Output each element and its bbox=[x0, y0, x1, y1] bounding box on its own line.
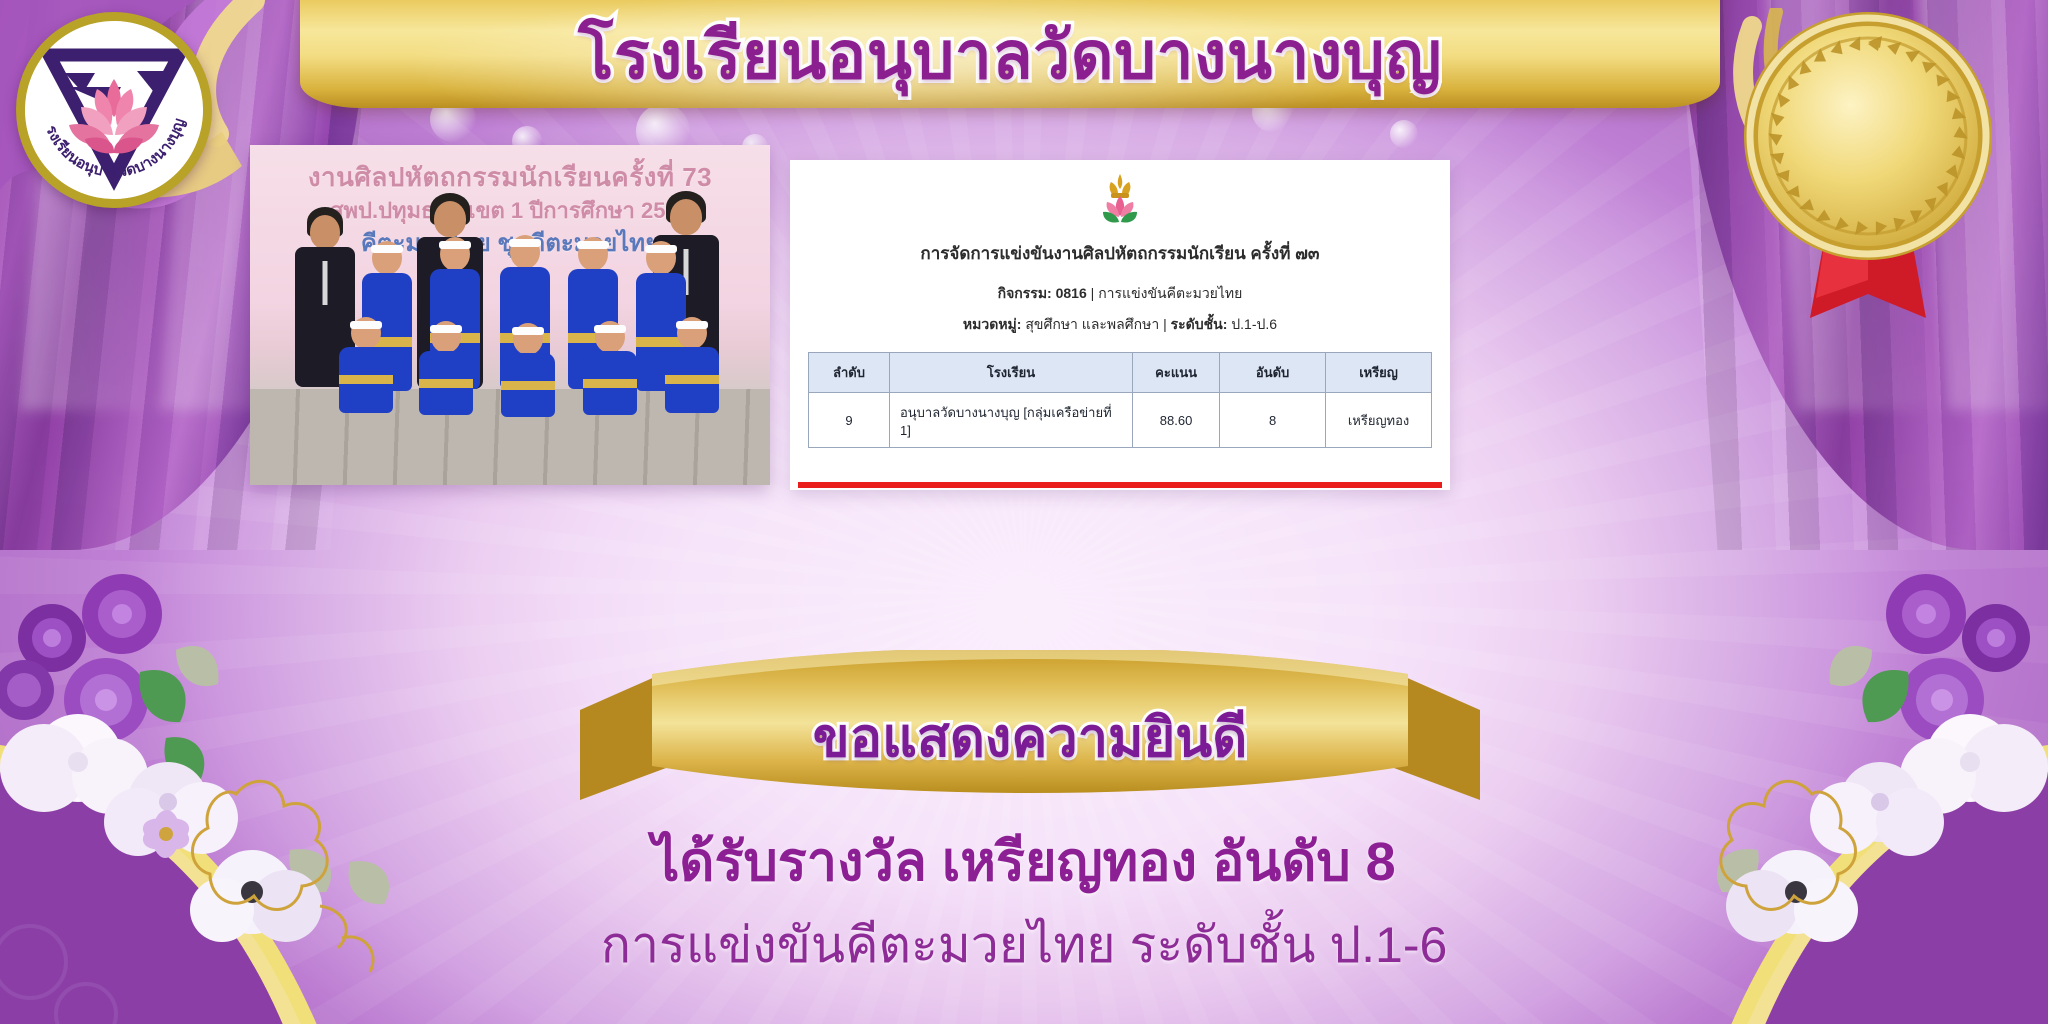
student-figure bbox=[336, 317, 396, 413]
column-header-rank: อันดับ bbox=[1220, 353, 1326, 393]
gold-medal-icon bbox=[1718, 8, 2018, 338]
bokeh-light bbox=[1390, 120, 1418, 148]
column-header-order: ลำดับ bbox=[809, 353, 890, 393]
floral-corner-right bbox=[1498, 562, 2048, 1024]
category-value: สุขศึกษา และพลศึกษา bbox=[1025, 316, 1159, 332]
table-header-row: ลำดับ โรงเรียน คะแนน อันดับ เหรียญ bbox=[809, 353, 1432, 393]
congratulations-text: ขอแสดงความยินดี bbox=[580, 694, 1480, 780]
congratulations-ribbon: ขอแสดงความยินดี bbox=[580, 650, 1480, 820]
activity-code: 0816 bbox=[1056, 285, 1087, 301]
column-header-school: โรงเรียน bbox=[889, 353, 1132, 393]
certificate-category-line: หมวดหมู่: สุขศึกษา และพลศึกษา | ระดับชั้… bbox=[808, 314, 1432, 336]
activity-separator: | bbox=[1091, 285, 1095, 301]
cell-school: อนุบาลวัดบางนางบุญ [กลุ่มเครือข่ายที่ 1] bbox=[889, 393, 1132, 448]
result-highlight-underline bbox=[798, 482, 1442, 488]
cell-rank: 8 bbox=[1220, 393, 1326, 448]
gold-medal bbox=[1718, 8, 2018, 338]
cell-medal: เหรียญทอง bbox=[1326, 393, 1432, 448]
activity-label: กิจกรรม: bbox=[998, 285, 1052, 301]
lotus-crown-emblem-icon bbox=[1089, 172, 1151, 228]
congratulations-poster: โรงเรียนอนุบาลวัดบางนางบุญ โรงเ bbox=[0, 0, 2048, 1024]
category-separator: | bbox=[1163, 316, 1167, 332]
student-figure bbox=[498, 323, 558, 417]
cell-order: 9 bbox=[809, 393, 890, 448]
results-table: ลำดับ โรงเรียน คะแนน อันดับ เหรียญ 9 อนุ… bbox=[808, 352, 1432, 448]
student-figure bbox=[662, 317, 722, 413]
level-value: ป.1-ป.6 bbox=[1231, 316, 1277, 332]
floral-corner-left bbox=[0, 562, 550, 1024]
level-label: ระดับชั้น: bbox=[1171, 316, 1228, 332]
school-lotus-logo-icon: โรงเรียนอนุบาลวัดบางนางบุญ bbox=[25, 21, 203, 199]
column-header-score: คะแนน bbox=[1132, 353, 1219, 393]
certificate-activity-line: กิจกรรม: 0816 | การแข่งขันคีตะมวยไทย bbox=[808, 283, 1432, 305]
student-figure bbox=[580, 321, 640, 415]
school-logo: โรงเรียนอนุบาลวัดบางนางบุญ bbox=[16, 12, 212, 208]
column-header-medal: เหรียญ bbox=[1326, 353, 1432, 393]
certificate-emblem bbox=[808, 172, 1432, 228]
activity-name: การแข่งขันคีตะมวยไทย bbox=[1098, 285, 1242, 301]
team-photo: งานศิลปหัตถกรรมนักเรียนครั้งที่ 73 สพป.ป… bbox=[250, 145, 770, 485]
certificate-heading: การจัดการแข่งขันงานศิลปหัตถกรรมนักเรียน … bbox=[808, 240, 1432, 267]
page-title: โรงเรียนอนุบาลวัดบางนางบุญ bbox=[300, 14, 1720, 97]
cell-score: 88.60 bbox=[1132, 393, 1219, 448]
result-certificate: การจัดการแข่งขันงานศิลปหัตถกรรมนักเรียน … bbox=[790, 160, 1450, 490]
category-label: หมวดหมู่: bbox=[963, 316, 1022, 332]
student-figure bbox=[416, 321, 476, 415]
table-row: 9 อนุบาลวัดบางนางบุญ [กลุ่มเครือข่ายที่ … bbox=[809, 393, 1432, 448]
